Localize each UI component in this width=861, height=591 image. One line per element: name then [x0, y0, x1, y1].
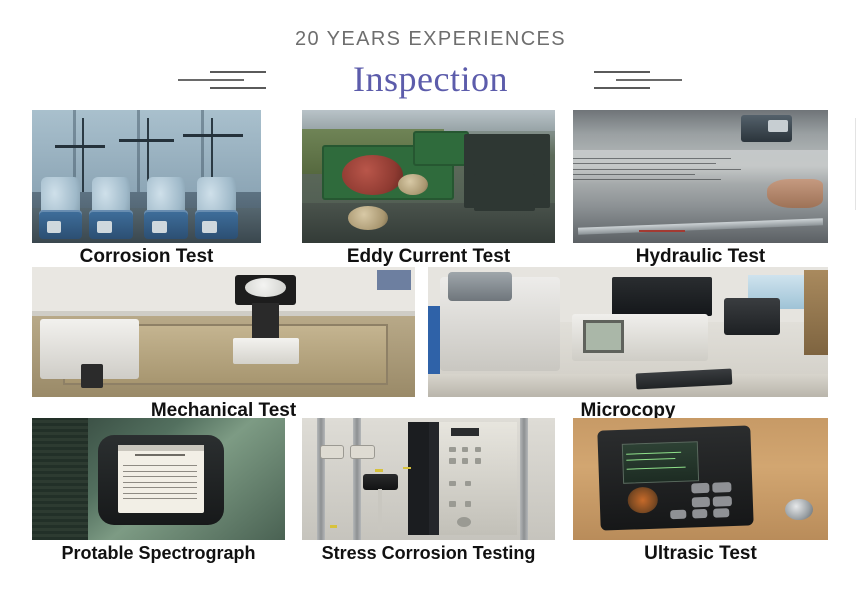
caption-ultrasic-test: Ultrasic Test: [553, 543, 848, 565]
photo-hydraulic-test: [573, 110, 828, 243]
photo-ultrasic-test: [573, 418, 828, 540]
photo-eddy-current-test: [302, 110, 555, 243]
gallery-item-ultrasic-test[interactable]: Ultrasic Test: [573, 418, 828, 540]
page-edge-divider: [855, 118, 856, 210]
gallery-grid: Corrosion Test Eddy Current Test: [0, 0, 861, 591]
gallery-item-microcopy[interactable]: Microcopy: [428, 267, 828, 397]
photo-protable-spectrograph: [32, 418, 285, 540]
photo-corrosion-test: [32, 110, 261, 243]
caption-hydraulic-test: Hydraulic Test: [553, 246, 848, 268]
caption-eddy-current-test: Eddy Current Test: [282, 246, 575, 268]
gallery-item-eddy-current-test[interactable]: Eddy Current Test: [302, 110, 555, 243]
caption-stress-corrosion-testing: Stress Corrosion Testing: [282, 543, 575, 564]
photo-mechanical-test: [32, 267, 415, 397]
photo-stress-corrosion-testing: [302, 418, 555, 540]
caption-protable-spectrograph: Protable Spectrograph: [12, 543, 305, 564]
gallery-item-corrosion-test[interactable]: Corrosion Test: [32, 110, 261, 243]
gallery-item-stress-corrosion-testing[interactable]: Stress Corrosion Testing: [302, 418, 555, 540]
gallery-item-hydraulic-test[interactable]: Hydraulic Test: [573, 110, 828, 243]
inspection-gallery-page: 20 YEARS EXPERIENCES Inspection: [0, 0, 861, 591]
gallery-item-mechanical-test[interactable]: Mechanical Test: [32, 267, 415, 397]
gallery-item-protable-spectrograph[interactable]: Protable Spectrograph: [32, 418, 285, 540]
caption-corrosion-test: Corrosion Test: [12, 246, 281, 268]
photo-microcopy: [428, 267, 828, 397]
